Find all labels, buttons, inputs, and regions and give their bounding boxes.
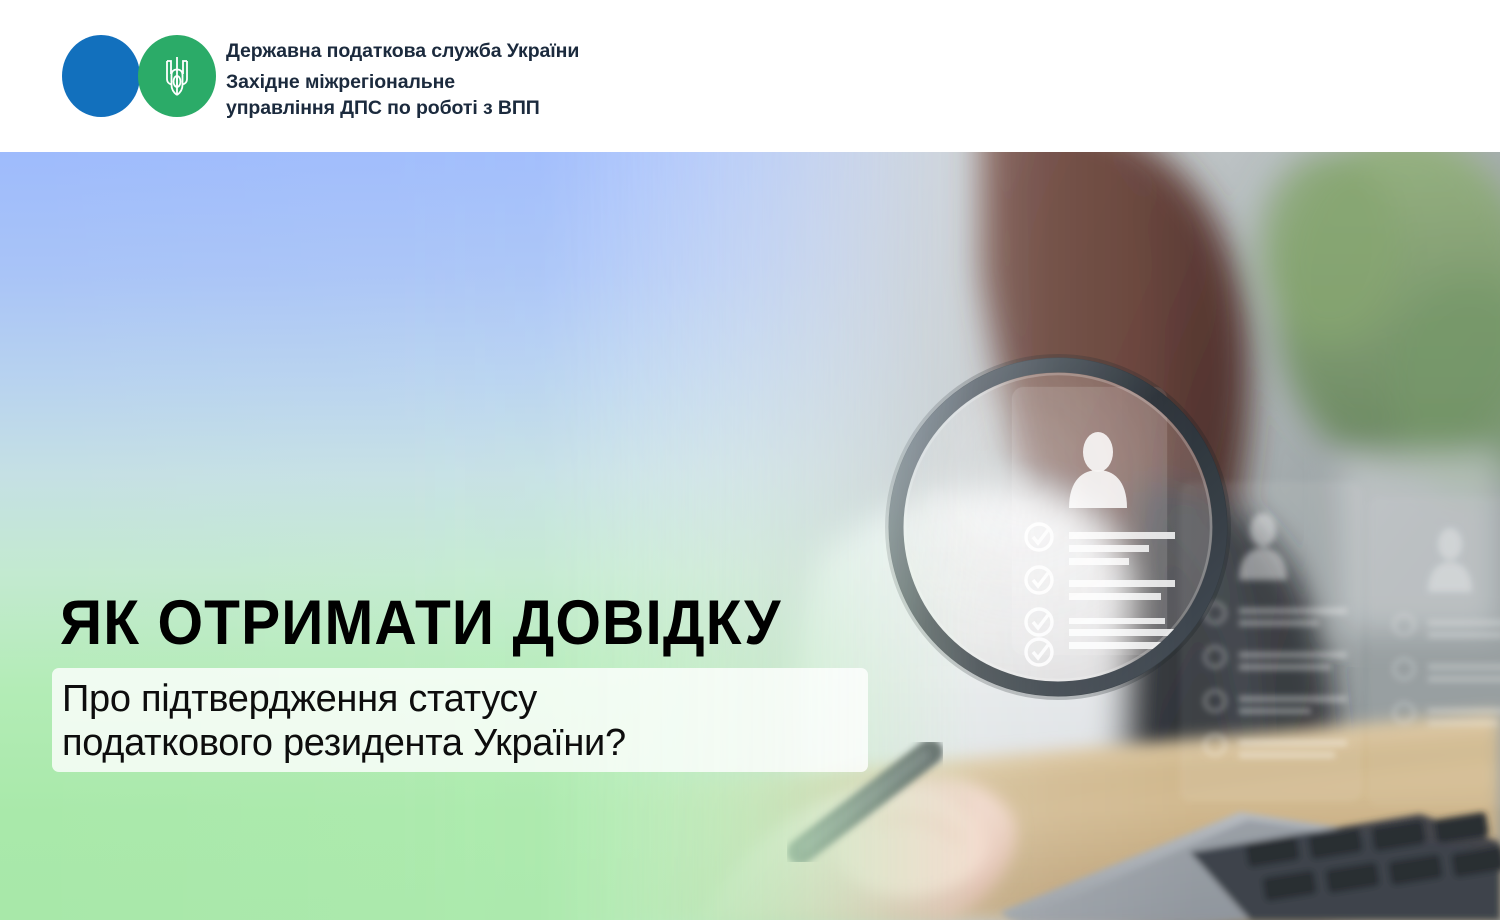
- organization-name-text: Державна податкова служба України Західн…: [226, 35, 579, 122]
- poster-page: Державна податкова служба України Західн…: [0, 0, 1500, 920]
- org-subtitle: Західне міжрегіональне управління ДПС по…: [226, 70, 579, 121]
- blue-circle-icon: [62, 35, 140, 117]
- org-subtitle-line-1: Західне міжрегіональне: [226, 70, 579, 96]
- page-title: ЯК ОТРИМАТИ ДОВІДКУ: [60, 592, 782, 655]
- subtitle-line-2: податкового резидента України?: [62, 721, 868, 765]
- org-subtitle-line-2: управління ДПС по роботі з ВПП: [226, 96, 579, 122]
- organization-logo-block[interactable]: Державна податкова служба України Західн…: [62, 35, 579, 122]
- ukraine-trident-icon: [162, 53, 192, 99]
- gradient-overlay: [0, 152, 1500, 920]
- site-header: Державна податкова служба України Західн…: [0, 0, 1500, 152]
- subtitle-line-1: Про підтвердження статусу: [62, 677, 868, 721]
- org-title: Державна податкова служба України: [226, 39, 579, 63]
- hero-banner: ЯК ОТРИМАТИ ДОВІДКУ Про підтвердження ст…: [0, 152, 1500, 920]
- logo-marks: [62, 35, 214, 117]
- subtitle-panel: Про підтвердження статусу податкового ре…: [52, 668, 868, 772]
